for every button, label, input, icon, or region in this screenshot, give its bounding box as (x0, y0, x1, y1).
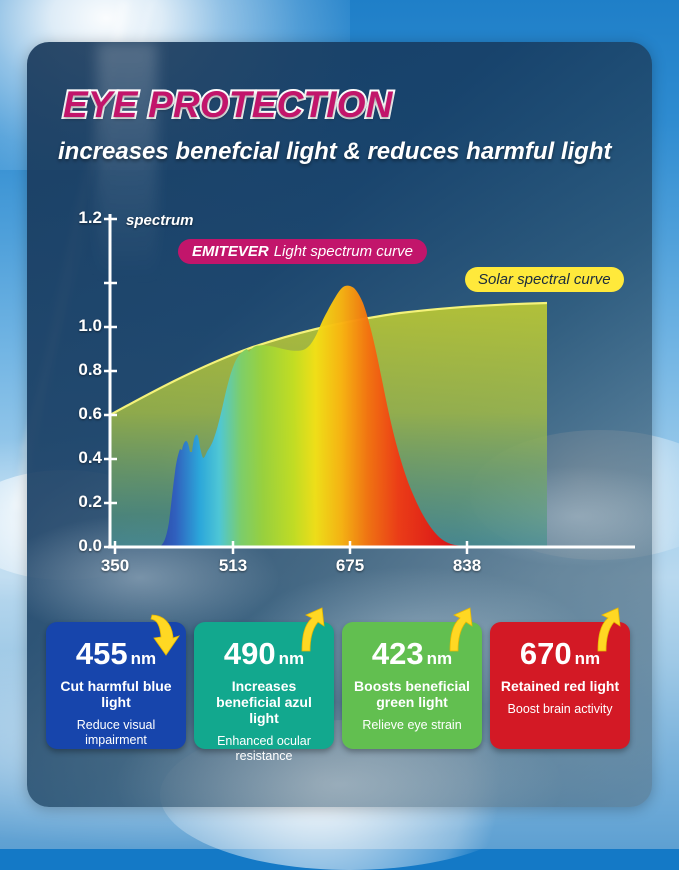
card-455-value: 455 (76, 638, 128, 669)
legend-solar[interactable]: Solar spectral curve (465, 267, 624, 292)
arrow-up-icon-490 (294, 607, 328, 653)
card-490-value-row: 490 nm (224, 638, 304, 669)
legend-emitever[interactable]: EMITEVER Light spectrum curve (178, 239, 427, 264)
legend-emitever-brand: EMITEVER (192, 243, 269, 260)
card-670-value-row: 670 nm (520, 638, 600, 669)
arrow-up-icon-670 (590, 607, 624, 653)
card-670-line1: Retained red light (495, 678, 625, 694)
card-455-line2: Reduce visual impairment (46, 718, 186, 748)
legend-emitever-text: Light spectrum curve (274, 243, 413, 260)
card-490-line1: Increases beneficial azul light (194, 678, 334, 726)
arrow-up-icon-423 (442, 607, 476, 653)
x-tick-513: 513 (203, 556, 263, 576)
x-tick-675: 675 (320, 556, 380, 576)
legend-solar-text: Solar spectral curve (478, 271, 611, 288)
card-423-line2: Relieve eye strain (354, 718, 469, 733)
x-tick-838: 838 (437, 556, 497, 576)
card-490-value: 490 (224, 638, 276, 669)
card-423-line1: Boosts beneficial green light (342, 678, 482, 710)
arrow-down-icon-455 (146, 612, 180, 658)
card-490-line2: Enhanced ocular resistance (194, 734, 334, 764)
card-455-line1: Cut harmful blue light (46, 678, 186, 710)
card-455-value-row: 455 nm (76, 638, 156, 669)
card-423-value-row: 423 nm (372, 638, 452, 669)
x-tick-350: 350 (85, 556, 145, 576)
card-670-value: 670 (520, 638, 572, 669)
card-423-value: 423 (372, 638, 424, 669)
card-670-line2: Boost brain activity (500, 702, 621, 717)
